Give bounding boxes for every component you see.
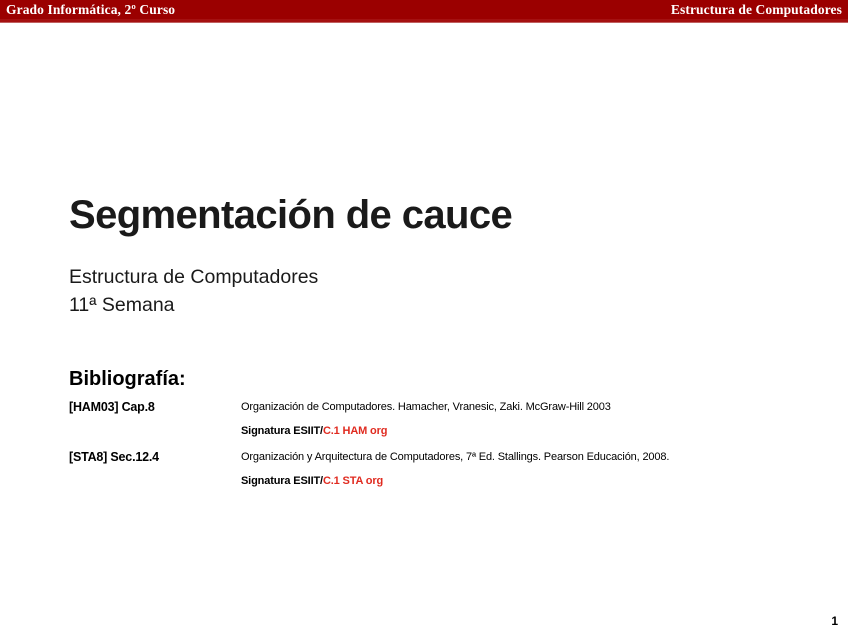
signature-code: C.1 HAM org: [323, 425, 387, 437]
header-course-label: Grado Informática, 2º Curso: [6, 2, 175, 18]
bibliography-signature: Signatura ESIIT/C.1 HAM org: [241, 425, 387, 437]
signature-label: Signatura ESIIT/: [241, 475, 323, 487]
slide-subtitle: Estructura de Computadores 11ª Semana: [69, 263, 318, 319]
page-number: 1: [831, 614, 838, 628]
bibliography-list: [HAM03] Cap.8 Organización de Computador…: [69, 400, 829, 500]
bibliography-entry: [HAM03] Cap.8 Organización de Computador…: [69, 400, 829, 450]
signature-label: Signatura ESIIT/: [241, 425, 323, 437]
subtitle-line-week: 11ª Semana: [69, 291, 318, 319]
bibliography-entry: [STA8] Sec.12.4 Organización y Arquitect…: [69, 450, 829, 500]
bibliography-description: Organización de Computadores. Hamacher, …: [241, 401, 611, 413]
bibliography-reference: [HAM03] Cap.8: [69, 400, 155, 414]
bibliography-heading: Bibliografía:: [69, 368, 186, 391]
bibliography-reference: [STA8] Sec.12.4: [69, 450, 159, 464]
bibliography-signature: Signatura ESIIT/C.1 STA org: [241, 475, 383, 487]
slide-header-bar: Grado Informática, 2º Curso Estructura d…: [0, 0, 848, 19]
slide-content: Segmentación de cauce Estructura de Comp…: [0, 23, 848, 636]
signature-code: C.1 STA org: [323, 475, 383, 487]
page-title: Segmentación de cauce: [69, 193, 512, 238]
header-subject-label: Estructura de Computadores: [671, 2, 842, 18]
subtitle-line-subject: Estructura de Computadores: [69, 263, 318, 291]
bibliography-description: Organización y Arquitectura de Computado…: [241, 451, 669, 463]
